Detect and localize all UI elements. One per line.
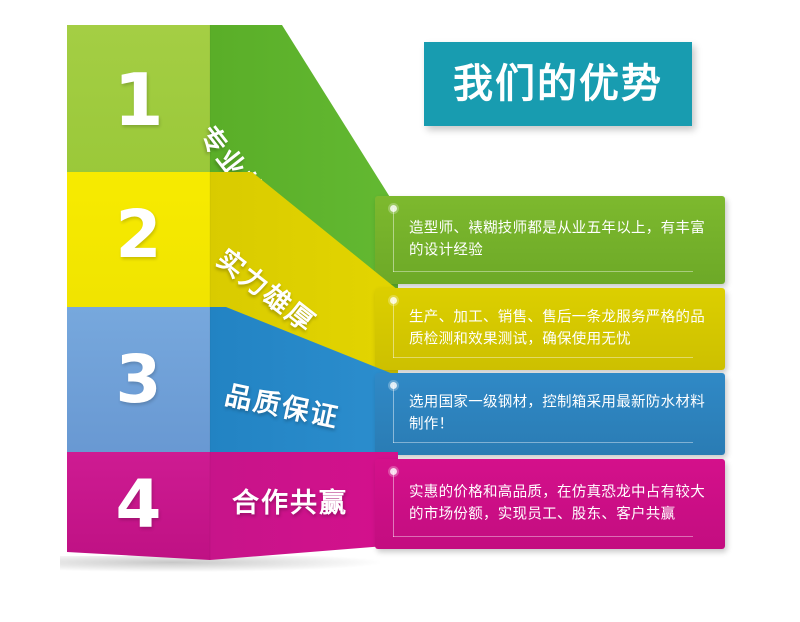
- advantage-body-text: 实惠的价格和高品质，在仿真恐龙中占有较大的市场份额，实现员工、股东、客户共赢: [409, 482, 709, 527]
- ribbon-label-4: 合作共赢: [232, 481, 348, 520]
- page-title: 我们的优势: [453, 64, 663, 104]
- panel-accent-line: [393, 471, 394, 537]
- infographic-canvas: 1 专业的团队 造型师、裱糊技师都是从业五年以上，有丰富的设计经验: [0, 0, 800, 622]
- advantage-panel-4: 实惠的价格和高品质，在仿真恐龙中占有较大的市场份额，实现员工、股东、客户共赢: [375, 459, 725, 549]
- title-banner: 我们的优势: [424, 42, 692, 126]
- row-number-4: 4: [67, 455, 210, 555]
- row-number-label: 4: [116, 472, 162, 538]
- panel-accent-underline: [393, 536, 693, 537]
